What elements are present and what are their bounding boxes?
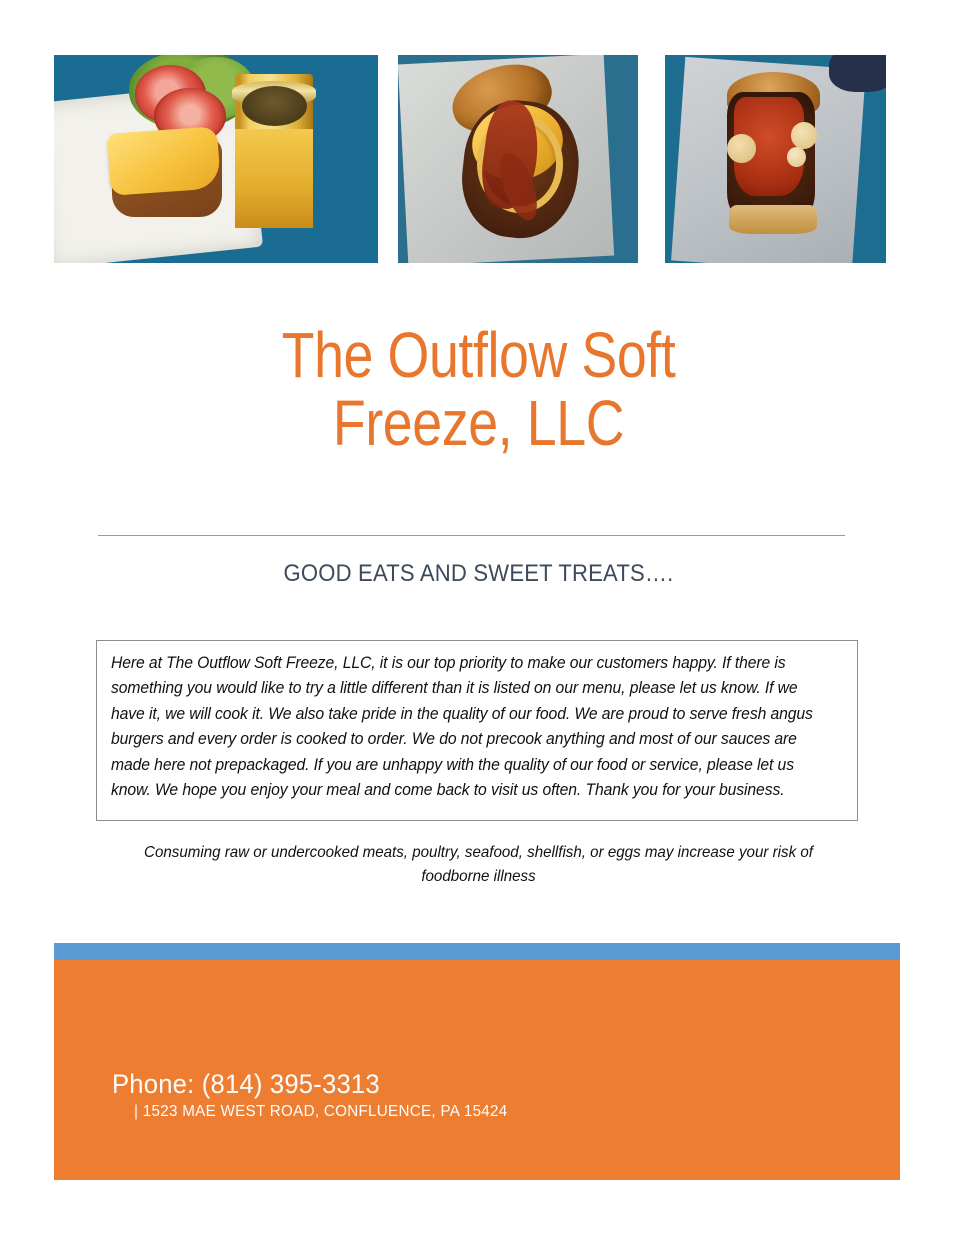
jar-opening [242, 86, 307, 126]
footer-phone: Phone: (814) 395-3313 [112, 1069, 380, 1100]
welcome-message-text: Here at The Outflow Soft Freeze, LLC, it… [111, 651, 819, 803]
mozzarella-piece [727, 134, 756, 163]
welcome-message-box: Here at The Outflow Soft Freeze, LLC, it… [96, 640, 858, 821]
photo-cheeseburger-with-tomato-and-cheese-sauce-jar [54, 55, 378, 263]
footer-blue-accent-bar [54, 943, 900, 960]
photo-pizza-burger-with-marinara [665, 55, 886, 263]
photo-bbq-burger-with-onion-ring [398, 55, 638, 263]
foodborne-illness-disclaimer: Consuming raw or undercooked meats, poul… [111, 841, 845, 889]
mozzarella-piece [791, 122, 818, 149]
page-title: The Outflow Soft Freeze, LLC [77, 322, 881, 458]
cheese-sauce-jar [235, 74, 313, 228]
burger-bun-bottom [729, 205, 817, 234]
flyer-page: The Outflow Soft Freeze, LLC GOOD EATS A… [0, 0, 957, 1238]
melted-cheese-slice [107, 126, 221, 196]
jar-contents [235, 129, 313, 228]
tagline: GOOD EATS AND SWEET TREATS…. [38, 560, 918, 588]
background-object [829, 55, 886, 92]
title-divider-rule [98, 535, 845, 536]
footer-address: | 1523 MAE WEST ROAD, CONFLUENCE, PA 154… [134, 1103, 508, 1121]
